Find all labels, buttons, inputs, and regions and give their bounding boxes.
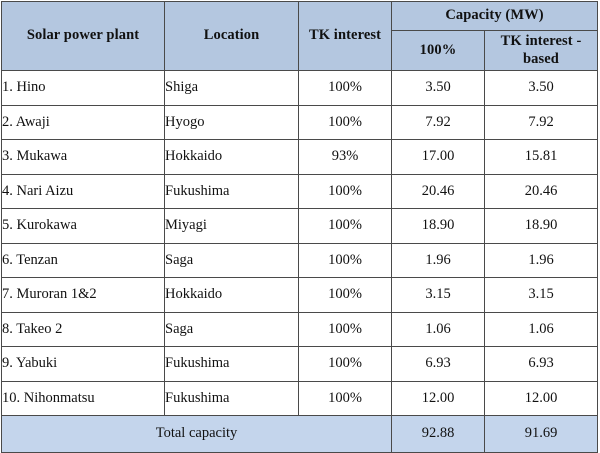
cell-solar-power-plant: 7. Muroran 1&2 — [2, 278, 165, 313]
cell-location: Hyogo — [165, 105, 299, 140]
table-row: 3. MukawaHokkaido93%17.0015.81 — [2, 140, 598, 175]
cell-tk-interest: 100% — [299, 243, 392, 278]
column-header-location: Location — [165, 2, 299, 71]
cell-capacity-tk-based: 1.06 — [485, 312, 598, 347]
cell-location: Saga — [165, 312, 299, 347]
table-body: 1. HinoShiga100%3.503.502. AwajiHyogo100… — [2, 71, 598, 416]
cell-capacity-tk-based: 6.93 — [485, 347, 598, 382]
capacity-table-container: Solar power plant Location TK interest C… — [0, 0, 600, 432]
table-row: 7. Muroran 1&2Hokkaido100%3.153.15 — [2, 278, 598, 313]
total-row: Total capacity 92.88 91.69 — [2, 416, 598, 453]
table-row: 8. Takeo 2Saga100%1.061.06 — [2, 312, 598, 347]
cell-capacity-100: 1.96 — [392, 243, 485, 278]
cell-location: Miyagi — [165, 209, 299, 244]
table-row: 9. YabukiFukushima100%6.936.93 — [2, 347, 598, 382]
table-row: 4. Nari AizuFukushima100%20.4620.46 — [2, 174, 598, 209]
cell-capacity-100: 3.50 — [392, 71, 485, 106]
cell-tk-interest: 100% — [299, 312, 392, 347]
cell-capacity-tk-based: 20.46 — [485, 174, 598, 209]
cell-capacity-100: 1.06 — [392, 312, 485, 347]
table-header: Solar power plant Location TK interest C… — [2, 2, 598, 71]
cell-capacity-100: 20.46 — [392, 174, 485, 209]
cell-location: Saga — [165, 243, 299, 278]
cell-solar-power-plant: 2. Awaji — [2, 105, 165, 140]
cell-capacity-100: 6.93 — [392, 347, 485, 382]
cell-tk-interest: 100% — [299, 71, 392, 106]
table-row: 1. HinoShiga100%3.503.50 — [2, 71, 598, 106]
cell-solar-power-plant: 10. Nihonmatsu — [2, 381, 165, 416]
cell-capacity-100: 12.00 — [392, 381, 485, 416]
cell-location: Fukushima — [165, 347, 299, 382]
cell-capacity-tk-based: 1.96 — [485, 243, 598, 278]
cell-solar-power-plant: 1. Hino — [2, 71, 165, 106]
cell-capacity-tk-based: 18.90 — [485, 209, 598, 244]
column-header-tk-interest: TK interest — [299, 2, 392, 71]
cell-capacity-tk-based: 15.81 — [485, 140, 598, 175]
cell-capacity-100: 18.90 — [392, 209, 485, 244]
table-row: 5. KurokawaMiyagi100%18.9018.90 — [2, 209, 598, 244]
cell-tk-interest: 100% — [299, 347, 392, 382]
cell-solar-power-plant: 8. Takeo 2 — [2, 312, 165, 347]
cell-location: Shiga — [165, 71, 299, 106]
table-row: 2. AwajiHyogo100%7.927.92 — [2, 105, 598, 140]
table-row: 10. NihonmatsuFukushima100%12.0012.00 — [2, 381, 598, 416]
cell-solar-power-plant: 6. Tenzan — [2, 243, 165, 278]
cell-solar-power-plant: 4. Nari Aizu — [2, 174, 165, 209]
cell-capacity-tk-based: 3.50 — [485, 71, 598, 106]
cell-capacity-100: 17.00 — [392, 140, 485, 175]
cell-tk-interest: 93% — [299, 140, 392, 175]
total-capacity-tk-based: 91.69 — [485, 416, 598, 453]
cell-solar-power-plant: 3. Mukawa — [2, 140, 165, 175]
cell-tk-interest: 100% — [299, 381, 392, 416]
total-capacity-100: 92.88 — [392, 416, 485, 453]
column-header-solar-power-plant: Solar power plant — [2, 2, 165, 71]
cell-capacity-tk-based: 3.15 — [485, 278, 598, 313]
cell-capacity-tk-based: 7.92 — [485, 105, 598, 140]
cell-tk-interest: 100% — [299, 209, 392, 244]
total-capacity-label: Total capacity — [2, 416, 392, 453]
table-row: 6. TenzanSaga100%1.961.96 — [2, 243, 598, 278]
cell-capacity-100: 3.15 — [392, 278, 485, 313]
cell-solar-power-plant: 5. Kurokawa — [2, 209, 165, 244]
header-row-top: Solar power plant Location TK interest C… — [2, 2, 598, 31]
cell-location: Hokkaido — [165, 140, 299, 175]
cell-location: Fukushima — [165, 174, 299, 209]
cell-solar-power-plant: 9. Yabuki — [2, 347, 165, 382]
column-header-capacity-group: Capacity (MW) — [392, 2, 598, 31]
table-footer: Total capacity 92.88 91.69 — [2, 416, 598, 453]
cell-tk-interest: 100% — [299, 278, 392, 313]
cell-tk-interest: 100% — [299, 105, 392, 140]
cell-location: Hokkaido — [165, 278, 299, 313]
cell-capacity-100: 7.92 — [392, 105, 485, 140]
column-header-capacity-tk-based: TK interest - based — [485, 31, 598, 71]
cell-tk-interest: 100% — [299, 174, 392, 209]
cell-capacity-tk-based: 12.00 — [485, 381, 598, 416]
cell-location: Fukushima — [165, 381, 299, 416]
solar-power-plant-capacity-table: Solar power plant Location TK interest C… — [1, 1, 598, 453]
column-header-capacity-100: 100% — [392, 31, 485, 71]
